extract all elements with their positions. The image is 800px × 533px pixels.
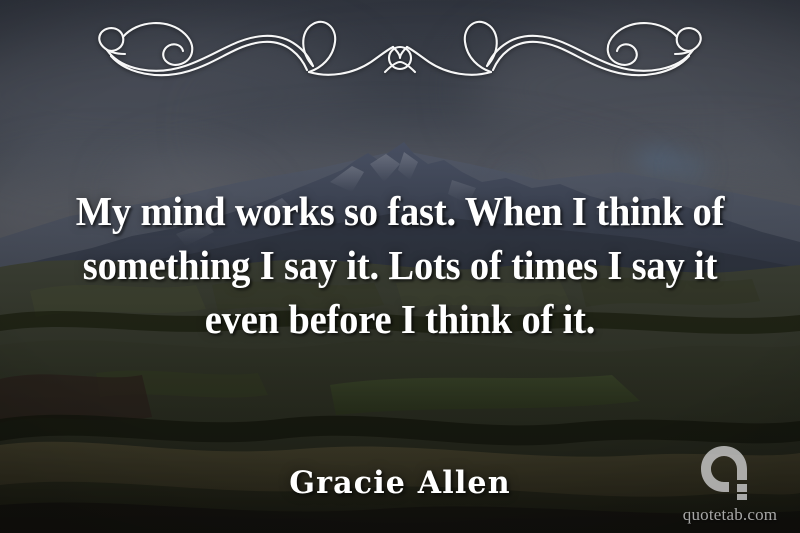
site-watermark: quotetab.com [674, 444, 786, 525]
watermark-label: quotetab.com [674, 505, 786, 525]
decorative-flourish-divider-icon [85, 14, 715, 84]
quote-image-card: My mind works so fast. When I think of s… [0, 0, 800, 533]
quote-author: Gracie Allen [12, 463, 788, 503]
card-content: My mind works so fast. When I think of s… [0, 0, 800, 533]
quote-text: My mind works so fast. When I think of s… [24, 184, 776, 346]
quotetab-q-logo-icon [674, 444, 786, 504]
